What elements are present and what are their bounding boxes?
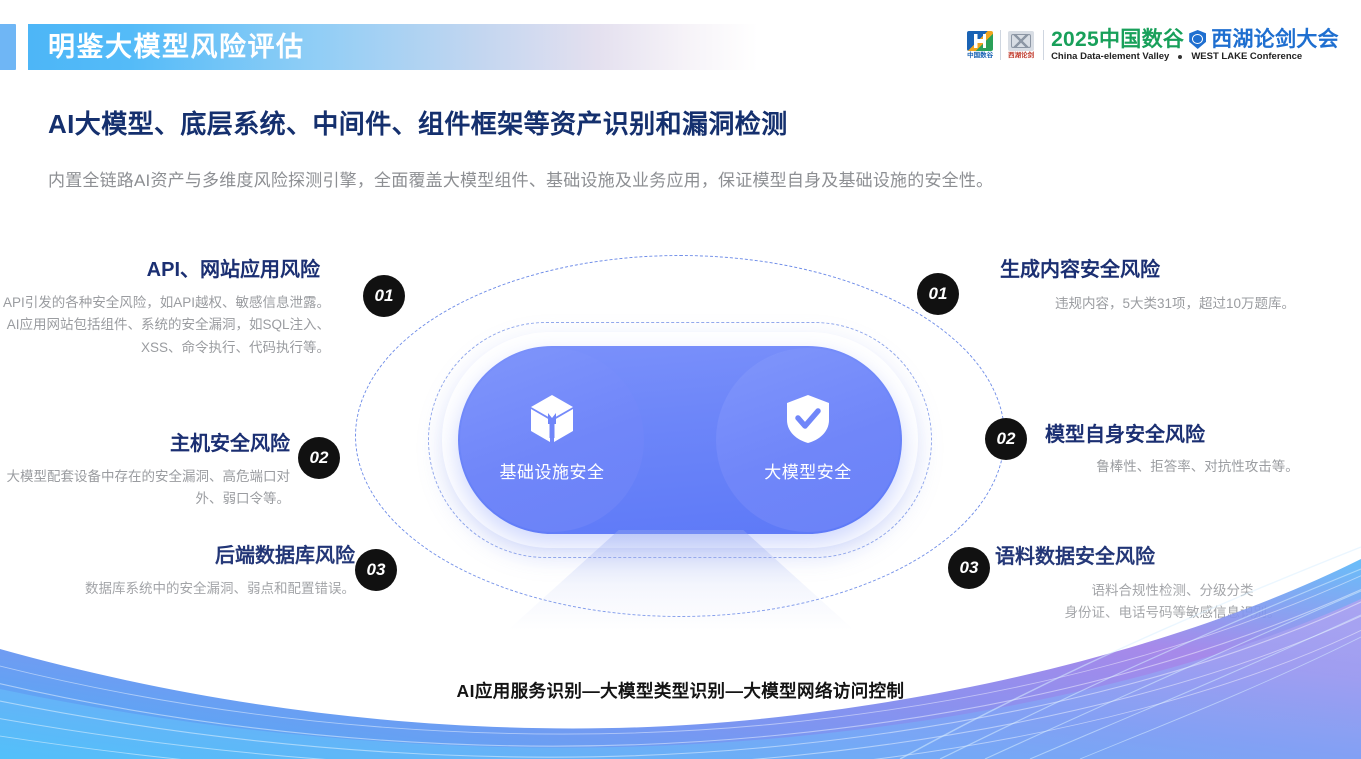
conference-wordmark-line2: China Data-element Valley WEST LAKE Conf… [1051, 52, 1339, 62]
cube-icon [460, 394, 644, 444]
risk-title: 主机安全风险 [0, 432, 290, 456]
risk-description: 鲁棒性、拒答率、对抗性攻击等。 [1045, 456, 1350, 478]
risk-title: 模型自身安全风险 [1045, 423, 1350, 447]
shield-check-icon [716, 394, 900, 444]
header-accent-block [0, 24, 16, 70]
badge-right-02: 02 [985, 418, 1027, 460]
shuyu-logo-icon [967, 31, 993, 51]
risk-title: 语料数据安全风险 [995, 545, 1350, 569]
risk-description: 大模型配套设备中存在的安全漏洞、高危端口对外、弱口令等。 [0, 466, 290, 511]
conference-wordmark: 2025中国数谷 西湖论剑大会 China Data-element Valle… [1051, 29, 1339, 62]
separator-dot-icon [1178, 55, 1182, 59]
risk-description: 违规内容，5大类31项，超过10万题库。 [1000, 293, 1350, 315]
header-bar: 明鉴大模型风险评估 [0, 24, 760, 70]
risk-item-generated-content: 生成内容安全风险 违规内容，5大类31项，超过10万题库。 [1000, 258, 1350, 315]
capsule-label-right: 大模型安全 [716, 458, 900, 483]
slide-canvas: 明鉴大模型风险评估 中国数谷 西湖论剑 2025中国数谷 西湖论剑大会 Chin… [0, 0, 1361, 759]
conference-wordmark-line1: 2025中国数谷 西湖论剑大会 [1051, 29, 1339, 50]
shuyu-logo-caption: 中国数谷 [967, 53, 993, 60]
risk-item-backend-database: 后端数据库风险 数据库系统中的安全漏洞、弱点和配置错误。 [50, 544, 355, 600]
brand-year-org: 2025中国数谷 [1051, 29, 1184, 50]
risk-description: API引发的各种安全风险，如API越权、敏感信息泄露。AI应用网站包括组件、系统… [0, 292, 330, 359]
logo-mark-xihu: 西湖论剑 [1008, 31, 1034, 60]
xihu-logo-caption: 西湖论剑 [1008, 53, 1034, 60]
risk-item-corpus-data: 语料数据安全风险 语料合规性检测、分级分类 身份证、电话号码等敏感信息识别。 [995, 545, 1350, 625]
section-subheading: 内置全链路AI资产与多维度风险探测引擎，全面覆盖大模型组件、基础设施及业务应用，… [48, 166, 993, 191]
risk-title: 后端数据库风险 [50, 544, 355, 568]
conference-logo: 中国数谷 西湖论剑 2025中国数谷 西湖论剑大会 China Data-ele… [967, 29, 1339, 62]
capsule-label-left: 基础设施安全 [460, 458, 644, 483]
risk-description: 语料合规性检测、分级分类 身份证、电话号码等敏感信息识别。 [995, 580, 1350, 625]
risk-title: API、网站应用风险 [0, 258, 320, 282]
logo-divider-2 [1043, 30, 1044, 60]
badge-right-01: 01 [917, 273, 959, 315]
risk-item-host-security: 主机安全风险 大模型配套设备中存在的安全漏洞、高危端口对外、弱口令等。 [0, 432, 290, 511]
badge-right-03: 03 [948, 547, 990, 589]
logo-mark-shuyu: 中国数谷 [967, 31, 993, 60]
capsule-panel: 基础设施安全 大模型安全 [458, 346, 902, 534]
badge-left-02: 02 [298, 437, 340, 479]
badge-left-01: 01 [363, 275, 405, 317]
shield-badge-icon [1189, 30, 1206, 49]
risk-item-api-website: API、网站应用风险 API引发的各种安全风险，如API越权、敏感信息泄露。AI… [0, 258, 330, 359]
brand-subtitle-left: China Data-element Valley [1051, 52, 1169, 62]
badge-left-03: 03 [355, 549, 397, 591]
risk-title: 生成内容安全风险 [1000, 258, 1350, 282]
footer-caption: AI应用服务识别—大模型类型识别—大模型网络访问控制 [0, 678, 1361, 703]
risk-item-model-itself: 模型自身安全风险 鲁棒性、拒答率、对抗性攻击等。 [1045, 423, 1350, 478]
brand-subtitle-right: WEST LAKE Conference [1191, 52, 1302, 62]
brand-conference-name: 西湖论剑大会 [1211, 29, 1339, 50]
risk-description: 数据库系统中的安全漏洞、弱点和配置错误。 [50, 578, 355, 600]
section-heading: AI大模型、底层系统、中间件、组件框架等资产识别和漏洞检测 [48, 104, 788, 141]
logo-divider [1000, 30, 1001, 60]
xihu-logo-icon [1008, 31, 1034, 51]
page-title: 明鉴大模型风险评估 [48, 24, 305, 70]
